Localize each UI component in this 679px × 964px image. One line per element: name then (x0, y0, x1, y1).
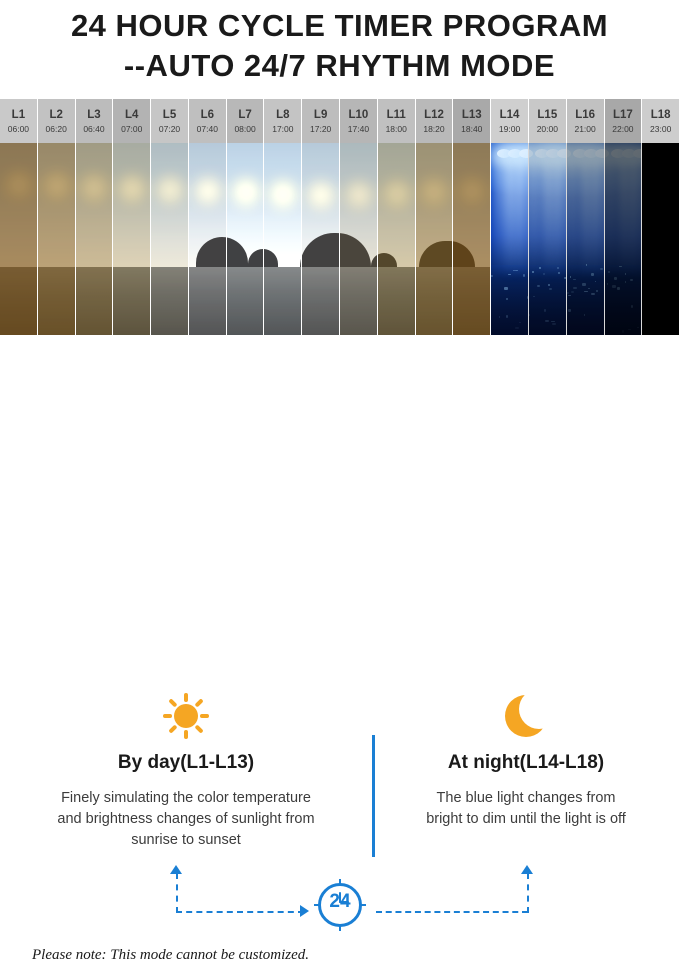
timeline-cell-time: 07:40 (197, 124, 218, 135)
loop-line-left-horizontal (176, 911, 304, 913)
scene-segment-13 (453, 143, 491, 335)
timeline-cell-time: 08:00 (234, 124, 255, 135)
sun-ray (194, 725, 203, 734)
timeline-cell-label: L18 (651, 108, 671, 122)
night-text-line-2: bright to dim until the light is off (386, 809, 666, 830)
timeline-cell-label: L4 (125, 108, 138, 122)
timeline-cell-l2: L206:20 (38, 99, 76, 143)
sun-ray (200, 714, 209, 718)
scene-image-strip (0, 143, 679, 335)
scene-segment-17 (605, 143, 643, 335)
timeline-strip: L106:00L206:20L306:40L407:00L507:20L607:… (0, 99, 679, 143)
page-title: 24 HOUR CYCLE TIMER PROGRAM --AUTO 24/7 … (0, 0, 679, 85)
timeline-cell-time: 22:00 (612, 124, 633, 135)
timeline-cell-label: L8 (276, 108, 289, 122)
timeline-cell-time: 17:00 (272, 124, 293, 135)
timeline-cell-l5: L507:20 (151, 99, 189, 143)
timeline-cell-time: 18:00 (386, 124, 407, 135)
timeline-cell-label: L10 (349, 108, 369, 122)
timeline-cell-l7: L708:00 (227, 99, 265, 143)
timeline-cell-l8: L817:00 (264, 99, 302, 143)
timeline-cell-time: 17:40 (348, 124, 369, 135)
loop-arrow-right-up (521, 865, 533, 874)
day-column: By day(L1-L13) Finely simulating the col… (18, 690, 354, 851)
timeline-cell-time: 18:20 (423, 124, 444, 135)
timeline-cell-l13: L1318:40 (453, 99, 491, 143)
timeline-cell-label: L13 (462, 108, 482, 122)
timeline-cell-l14: L1419:00 (491, 99, 529, 143)
timeline-cell-label: L5 (163, 108, 176, 122)
sun-ray (168, 725, 177, 734)
timeline-cell-label: L14 (500, 108, 520, 122)
timeline-cell-time: 07:00 (121, 124, 142, 135)
scene-segment-5 (151, 143, 189, 335)
scene-segment-9 (302, 143, 340, 335)
scene-segment-7 (227, 143, 265, 335)
night-text-line-1: The blue light changes from (386, 788, 666, 809)
timeline-cell-time: 18:40 (461, 124, 482, 135)
timeline-cell-label: L17 (613, 108, 633, 122)
timeline-cell-label: L12 (424, 108, 444, 122)
timeline-cell-l11: L1118:00 (378, 99, 416, 143)
loop-line-right-horizontal (376, 911, 528, 913)
timeline-cell-time: 23:00 (650, 124, 671, 135)
timeline-cell-time: 07:20 (159, 124, 180, 135)
timeline-cell-l1: L106:00 (0, 99, 38, 143)
moon-icon (386, 690, 666, 742)
night-heading: At night(L14-L18) (386, 752, 666, 774)
scene-segment-15 (529, 143, 567, 335)
sun-ray (184, 730, 188, 739)
timeline-cell-label: L16 (575, 108, 595, 122)
day-text-line-3: sunrise to sunset (18, 830, 354, 851)
clock-24-icon: 24 (312, 877, 368, 933)
scene-segment-3 (76, 143, 114, 335)
timeline-cell-label: L7 (238, 108, 251, 122)
scene-segment-18 (642, 143, 679, 335)
scene-segment-14 (491, 143, 529, 335)
timeline-cell-l17: L1722:00 (605, 99, 643, 143)
timeline-cell-l16: L1621:00 (567, 99, 605, 143)
title-line-2: --AUTO 24/7 RHYTHM MODE (0, 46, 679, 86)
timeline-cell-l4: L407:00 (113, 99, 151, 143)
timeline-cell-time: 17:20 (310, 124, 331, 135)
title-line-1: 24 HOUR CYCLE TIMER PROGRAM (0, 6, 679, 46)
night-column: At night(L14-L18) The blue light changes… (386, 690, 666, 830)
timeline-cell-time: 19:00 (499, 124, 520, 135)
timeline-cell-l18: L1823:00 (642, 99, 679, 143)
timeline-cell-time: 21:00 (574, 124, 595, 135)
timeline-cell-label: L6 (201, 108, 214, 122)
loop-arrow-into-clock (300, 905, 309, 917)
day-text-line-2: and brightness changes of sunlight from (18, 809, 354, 830)
scene-segment-16 (567, 143, 605, 335)
footnote: Please note: This mode cannot be customi… (32, 947, 309, 964)
scene-segment-2 (38, 143, 76, 335)
scene-segment-4 (113, 143, 151, 335)
timeline-cell-time: 06:20 (46, 124, 67, 135)
timeline-cell-l6: L607:40 (189, 99, 227, 143)
loop-diagram: 24 (0, 855, 679, 935)
timeline-cell-time: 06:00 (8, 124, 29, 135)
scene-segment-6 (189, 143, 227, 335)
sun-ray (163, 714, 172, 718)
day-description: Finely simulating the color temperature … (18, 788, 354, 851)
timeline-cell-label: L11 (387, 108, 406, 122)
sun-icon (18, 690, 354, 742)
scene-segment-11 (378, 143, 416, 335)
sun-ray (168, 699, 177, 708)
loop-line-left-vertical (176, 873, 178, 913)
scene-segment-1 (0, 143, 38, 335)
timeline-cell-label: L2 (49, 108, 62, 122)
timeline-cell-label: L1 (12, 108, 25, 122)
timeline-cell-label: L15 (537, 108, 557, 122)
loop-arrow-left-up (170, 865, 182, 874)
scene-segment-12 (416, 143, 454, 335)
timeline-cell-l15: L1520:00 (529, 99, 567, 143)
night-description: The blue light changes from bright to di… (386, 788, 666, 830)
vertical-divider (372, 735, 375, 857)
timeline-cell-label: L9 (314, 108, 327, 122)
timeline-cell-l10: L1017:40 (340, 99, 378, 143)
sun-ray (194, 699, 203, 708)
timeline-cell-l3: L306:40 (76, 99, 114, 143)
timeline-cell-time: 06:40 (83, 124, 104, 135)
scene-segment-10 (340, 143, 378, 335)
timeline-cell-time: 20:00 (537, 124, 558, 135)
timeline-cell-l12: L1218:20 (416, 99, 454, 143)
timeline-cell-label: L3 (87, 108, 100, 122)
sun-ray (184, 693, 188, 702)
loop-line-right-vertical (527, 873, 529, 913)
day-text-line-1: Finely simulating the color temperature (18, 788, 354, 809)
timeline-cell-l9: L917:20 (302, 99, 340, 143)
day-heading: By day(L1-L13) (18, 752, 354, 774)
scene-segment-8 (264, 143, 302, 335)
